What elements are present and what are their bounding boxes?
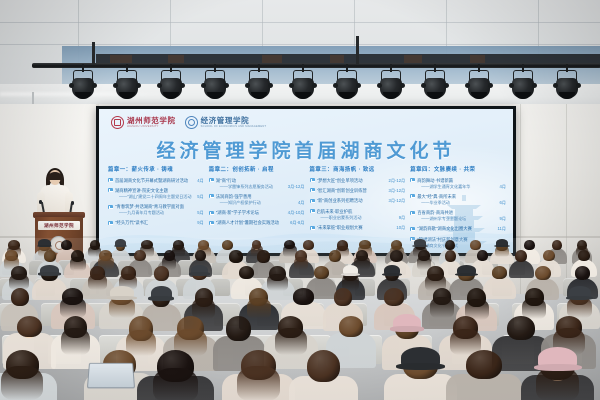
baseball-cap-icon — [569, 286, 591, 298]
laptop-screen — [87, 363, 135, 388]
audience-area — [0, 238, 600, 400]
program-item-title: 11月"湖韵商歌"湖商文化出圈大赛 — [417, 226, 506, 232]
audience-member-head — [384, 288, 404, 306]
program-item-date: 5月 — [197, 210, 204, 216]
check-bullet-icon — [410, 227, 415, 231]
program-item: 3月-12月"智汇湖商"创新创业训练营 — [310, 188, 406, 194]
check-bullet-icon — [310, 209, 315, 213]
audience-member-head — [226, 316, 251, 341]
audience-member-head — [134, 250, 146, 261]
audience-member-hair — [495, 246, 509, 258]
audience-member-head — [11, 288, 29, 306]
check-bullet-icon — [209, 221, 214, 225]
audience-member-head — [535, 266, 551, 280]
program-item: 4月首届湖商文化节开幕式暨湖商研讨活动 — [108, 178, 204, 184]
baseball-cap-icon — [110, 286, 134, 298]
baseball-cap-icon — [115, 239, 126, 247]
audience-member-hair — [126, 330, 155, 357]
program-item: 湖"商"行动3月-12月——学雷锋系列志愿服务活动 — [209, 178, 305, 190]
program-item: "青春筑梦·共话湖商"青马教学面对面5月——九月青年月专题活动 — [108, 204, 204, 216]
program-item: 11月"湖韵商歌"湖商文化出圈大赛 — [410, 226, 506, 232]
stage-spotlight-icon — [202, 70, 228, 100]
baseball-cap-icon — [393, 314, 420, 331]
audience-member-hair — [70, 257, 86, 271]
audience-member-head — [44, 250, 56, 262]
program-item-date: 4月 — [298, 200, 305, 206]
audience-member-head — [552, 240, 561, 250]
check-bullet-icon — [108, 221, 113, 225]
program-item: 最大"经"典·商所未来6月——毕业季活动 — [410, 194, 506, 206]
audience-member-head — [445, 240, 455, 250]
audience-member-head — [524, 240, 534, 250]
program-item-title: 3月-12月"新"商创业系列招聘活动 — [317, 198, 406, 204]
stage-spotlight-icon — [334, 70, 360, 100]
audience-member-head — [61, 240, 72, 250]
check-bullet-icon — [310, 226, 315, 230]
audience-member-head — [470, 240, 480, 250]
audience-member-torso — [509, 260, 534, 278]
audience-member-hair — [430, 297, 453, 318]
program-item: 6月-8月"湖商人才计划"暑期社会实践活动 — [209, 220, 305, 226]
program-column-heading: 篇章一：薪火传承 · 铸魂 — [108, 165, 204, 173]
stage-spotlight-icon — [422, 70, 448, 100]
program-item: 2月-12月"梦想大匠"创业单项活动 — [310, 178, 406, 184]
program-item: 4月-10月"湖商·新"学子学术论坛 — [209, 210, 305, 216]
audience-member-head — [303, 240, 314, 250]
program-item-title: 9月"经头万代"读书汇 — [115, 220, 204, 226]
program-item: 10月"未来掌舵"职业规划大赛 — [310, 225, 406, 231]
audience-member-head — [445, 250, 456, 262]
program-item-title: 3月-12月"智汇湖商"创新创业训练营 — [317, 188, 406, 194]
check-bullet-icon — [108, 205, 113, 209]
program-item-date: 3月-12月 — [288, 184, 305, 190]
program-item: 商韵舞动·书谱新篇4月——湖学生通宵文化嘉年华 — [410, 178, 506, 190]
baseball-cap-icon — [414, 239, 426, 246]
audience-member-head — [293, 288, 314, 305]
audience-member-head — [543, 250, 555, 261]
program-item-subtitle: 4月——湖学生通宵文化嘉年华 — [417, 184, 506, 190]
program-item: 9月"经头万代"读书汇 — [108, 220, 204, 226]
baseball-cap-icon — [457, 265, 476, 275]
program-item: 法润商韵·强学善用4月——知识产权保护行动 — [209, 194, 305, 206]
program-item-subtitle: 4月——知识产权保护行动 — [216, 200, 305, 206]
check-bullet-icon — [410, 178, 415, 182]
stage-spotlight-icon — [158, 70, 184, 100]
program-item-date: 9月 — [197, 220, 204, 226]
stage-spotlight-icon — [378, 70, 404, 100]
baseball-cap-icon — [401, 347, 440, 368]
program-item-title: 4月-10月"湖商·新"学子学术论坛 — [216, 210, 305, 216]
audience-member-hair — [60, 297, 86, 318]
audience-member-head — [195, 250, 206, 261]
audience-member-head — [314, 266, 329, 279]
program-item-date: 4月-10月 — [288, 210, 305, 216]
lighting-truss — [32, 63, 600, 68]
audience-member-head — [477, 250, 488, 261]
check-bullet-icon — [410, 211, 415, 215]
stage-spotlight-icon — [290, 70, 316, 100]
program-item: 百省商韵·商海共进9月——湖州学专业主题论坛 — [410, 210, 506, 222]
audience-member-head — [17, 316, 42, 337]
audience-member-hair — [247, 298, 270, 319]
audience-member-head — [257, 250, 269, 263]
audience-member-head — [334, 288, 353, 306]
program-item: 湖商精神宣讲·院史文化主题5月——"湖山"建党二十四周年主题党日活动 — [108, 188, 204, 200]
audience-member-hair — [567, 297, 591, 318]
program-item-subtitle: 9月——湖州学专业主题论坛 — [417, 216, 506, 222]
program-item-date: 10月 — [396, 225, 405, 231]
audience-member-hair — [153, 368, 198, 400]
program-column-heading: 篇章三：商海扬帆 · 致远 — [310, 165, 406, 173]
audience-member-head — [578, 250, 590, 261]
audience-member-hair — [522, 298, 546, 319]
check-bullet-icon — [108, 178, 113, 182]
audience-member-head — [239, 266, 254, 279]
audience-member-head — [222, 240, 233, 250]
program-item-title: 10月"未来掌舵"职业规划大赛 — [317, 225, 406, 231]
check-bullet-icon — [209, 178, 214, 182]
audience-member-head — [307, 350, 340, 382]
program-item-subtitle: 5月——"湖山"建党二十四周年主题党日活动 — [115, 194, 204, 200]
check-bullet-icon — [310, 199, 315, 203]
check-bullet-icon — [209, 211, 214, 215]
baseball-cap-icon — [151, 286, 172, 300]
check-bullet-icon — [410, 194, 415, 198]
university-logo-cn: 湖州师范学院 — [127, 117, 176, 125]
college-logo-cn: 经济管理学院 — [201, 117, 267, 125]
audience-member-head — [575, 266, 590, 280]
program-item-subtitle: 6月——毕业季活动 — [417, 200, 506, 206]
program-item-date: 9月 — [499, 216, 506, 222]
program-item-title: 6月-8月"湖商人才计划"暑期社会实践活动 — [216, 220, 305, 226]
stage-spotlight-icon — [554, 70, 580, 100]
audience-member-hair — [1, 366, 43, 400]
program-item-title: 2月-12月"梦想大匠"创业单项活动 — [317, 178, 406, 184]
program-item-date: 4月 — [499, 184, 506, 190]
audience-member-hair — [267, 274, 288, 291]
podium-plaque: 湖州师范学院 — [38, 221, 80, 230]
program-item-subtitle: 5月——九月青年月专题活动 — [115, 210, 204, 216]
audience-member-head — [492, 266, 508, 279]
program-column-heading: 篇章四：文脉赓续 · 共荣 — [410, 165, 506, 173]
audience-member-hair — [536, 367, 579, 400]
audience-member-hair — [275, 328, 307, 355]
baseball-cap-icon — [496, 239, 509, 247]
program-item-date: 6月 — [499, 200, 506, 206]
slide-logo-row: 湖州师范学院 HUZHOU UNIVERSITY 经济管理学院 SCHOOL O… — [111, 116, 266, 129]
audience-member-head — [154, 266, 170, 281]
stage-spotlight-icon — [114, 70, 140, 100]
program-item: 启航未来·职业护航9月——职业启蒙系列活动 — [310, 209, 406, 221]
audience-member-head — [229, 250, 242, 263]
program-item-date: 5月 — [197, 194, 204, 200]
program-item-date: 3月-12月 — [388, 198, 405, 204]
audience-member-hair — [109, 297, 136, 318]
podium-plaque-text: 湖州师范学院 — [44, 223, 74, 229]
check-bullet-icon — [310, 178, 315, 182]
college-logo-en: SCHOOL OF ECONOMICS AND MANAGEMENT — [201, 126, 267, 129]
stage-spotlight-icon — [70, 70, 96, 100]
check-bullet-icon — [209, 194, 214, 198]
college-logo-mark — [185, 116, 198, 129]
stage-spotlight-icon — [466, 70, 492, 100]
audience-member-head — [515, 250, 527, 262]
program-item-date: 2月-12月 — [388, 178, 405, 184]
baseball-cap-icon — [384, 265, 400, 276]
program-item-subtitle: 9月——职业启蒙系列活动 — [317, 215, 406, 221]
audience-member-hair — [61, 328, 90, 355]
program-item-date: 3月-12月 — [388, 188, 405, 194]
lecture-hall-photo: 湖州师范学院 HUZHOU UNIVERSITY 经济管理学院 SCHOOL O… — [0, 0, 600, 400]
audience-member-torso — [483, 277, 516, 299]
audience-member-head — [339, 316, 363, 337]
program-item-date: 9月 — [399, 215, 406, 221]
baseball-cap-icon — [40, 265, 59, 275]
check-bullet-icon — [108, 188, 113, 192]
program-item-date: 4月 — [197, 178, 204, 184]
audience-member-head — [466, 350, 502, 379]
program-item-subtitle: 3月-12月——学雷锋系列志愿服务活动 — [216, 184, 305, 190]
university-logo-mark — [111, 116, 124, 129]
stage-spotlight-icon — [246, 70, 272, 100]
baseball-cap-icon — [538, 347, 577, 369]
audience-member-hair — [237, 366, 280, 400]
projection-screen: 湖州师范学院 HUZHOU UNIVERSITY 经济管理学院 SCHOOL O… — [96, 106, 516, 256]
audience-member-head — [390, 250, 403, 262]
university-logo-en: HUZHOU UNIVERSITY — [127, 126, 176, 129]
stage-spotlight-icon — [510, 70, 536, 100]
program-item: 3月-12月"新"商创业系列招聘活动 — [310, 198, 406, 204]
program-item-title: 4月首届湖商文化节开幕式暨湖商研讨活动 — [115, 178, 204, 184]
slide-title: 经济管理学院首届湖商文化节 — [99, 136, 513, 163]
baseball-cap-icon — [191, 265, 208, 275]
program-item-date: 11月 — [497, 226, 506, 232]
baseball-cap-icon — [38, 239, 51, 247]
audience-member-hair — [88, 274, 107, 291]
audience-member-hair — [294, 257, 309, 271]
audience-member-head — [329, 250, 342, 262]
baseball-cap-icon — [343, 265, 359, 276]
program-column-heading: 篇章二：创创拓新 · 启程 — [209, 165, 305, 173]
program-item-date: 6月-8月 — [290, 220, 304, 226]
slide-surface: 湖州师范学院 HUZHOU UNIVERSITY 经济管理学院 SCHOOL O… — [99, 109, 513, 253]
check-bullet-icon — [310, 188, 315, 192]
audience-member-head — [507, 316, 535, 340]
